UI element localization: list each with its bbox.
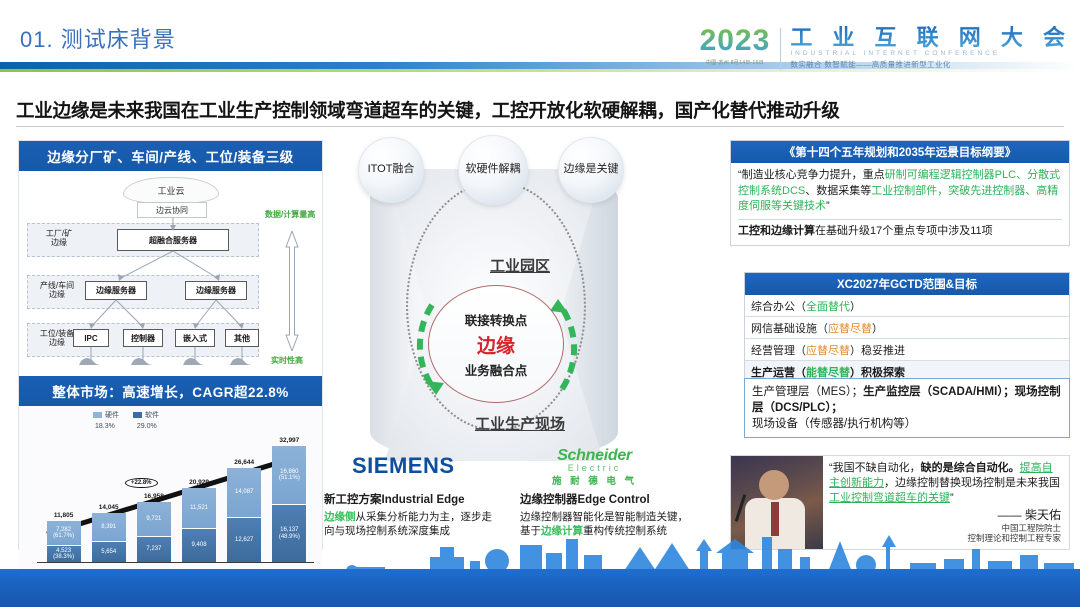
conference-name-en: INDUSTRIAL INTERNET CONFERENCE — [790, 50, 1072, 57]
caption-siemens-title: 新工控方案Industrial Edge — [324, 493, 500, 509]
hierarchy-connectors — [19, 171, 324, 376]
xc-table-row: 网信基础设施（应替尽替） — [745, 316, 1069, 338]
core-label-edge: 边缘 — [477, 331, 515, 358]
page-title: 01. 测试床背景 — [20, 22, 176, 54]
quote-p2: ，边缘控制替换现场控制是未来我国 — [884, 477, 1060, 489]
policy-quote-p2: 、数据采集等 — [805, 185, 871, 197]
footer-band — [0, 569, 1080, 607]
xc-table-row: 综合办公（全面替代） — [745, 295, 1069, 316]
conference-logo: 2023 中国·苏州 8月14日-16日 工 业 互 联 网 大 会 INDUS… — [700, 26, 1072, 70]
center-diagram: ITOT融合 软硬件解耦 边缘是关键 工业园区 工业生产现场 联接转换点 边缘 … — [330, 135, 710, 555]
core-edge-circle: 联接转换点 边缘 业务融合点 — [428, 285, 564, 403]
bar-total-label: 20,929 — [189, 479, 209, 486]
bar-segment-hardware: 16,860(51.1%) — [272, 446, 306, 505]
layers-line2: 现场设备（传感器/执行机构等） — [752, 418, 916, 430]
headline-text: 工业边缘是未来我国在工业生产控制领域弯道超车的关键，工控开放化软硬解耦，国产化替… — [16, 97, 1066, 123]
core-label-top: 联接转换点 — [465, 310, 528, 329]
xc-table-rows: 综合办公（全面替代）网信基础设施（应替尽替）经营管理（应替尽替）稳妥推进生产运营… — [745, 295, 1069, 382]
chart-legend: 硬件 软件 — [93, 410, 159, 420]
xc-table-title: XC2027年GCTD范围&目标 — [745, 273, 1069, 295]
xc-table: XC2027年GCTD范围&目标 综合办公（全面替代）网信基础设施（应替尽替）经… — [744, 272, 1070, 383]
legend-item-hardware: 硬件 — [93, 410, 119, 420]
bubble-decouple: 软硬件解耦 — [458, 135, 528, 205]
conference-name-cn: 工 业 互 联 网 大 会 — [790, 26, 1072, 49]
logo-divider — [780, 28, 781, 70]
headline-underline — [16, 126, 1064, 127]
policy-divider — [738, 219, 1062, 220]
quote-p3: ” — [950, 492, 954, 504]
policy-box: 《第十四个五年规划和2035年远景目标纲要》 “制造业核心竞争力提升，重点研制可… — [730, 140, 1070, 246]
schneider-logo: Schneider Electric 施 耐 德 电 气 — [552, 447, 637, 487]
bar-total-label: 32,997 — [279, 437, 299, 444]
schneider-logo-cn: 施 耐 德 电 气 — [552, 473, 637, 487]
bar-total-label: 14,045 — [99, 504, 119, 511]
bar-total-label: 26,644 — [234, 459, 254, 466]
policy-conclusion-rest: 在基础升级17个重点专项中涉及11项 — [815, 225, 993, 237]
policy-quote-p3: ” — [826, 200, 830, 212]
policy-body: “制造业核心竞争力提升，重点研制可编程逻辑控制器PLC、分散式控制系统DCS、数… — [731, 163, 1069, 245]
chart-title: 整体市场：高速增长，CAGR超22.8% — [19, 376, 322, 406]
quote-b1: 缺的是综合自动化。 — [921, 462, 1020, 474]
quote-g2: 工业控制弯道超车的关键 — [829, 492, 950, 504]
conference-year-block: 2023 中国·苏州 8月14日-16日 — [700, 26, 781, 66]
policy-conclusion: 工控和边缘计算在基础升级17个重点专项中涉及11项 — [738, 224, 1062, 240]
layers-line1: 生产管理层（MES）； — [752, 386, 863, 398]
conference-name-block: 工 业 互 联 网 大 会 INDUSTRIAL INTERNET CONFER… — [790, 26, 1072, 70]
bar-segment-hardware: 14,087 — [227, 468, 261, 518]
policy-quote-p1: “制造业核心竞争力提升，重点 — [738, 169, 885, 181]
growth-hardware: 18.3% — [95, 423, 115, 430]
left-panel: 边缘分厂矿、车间/产线、工位/装备三级 工业云 边云协同 数据/计算量高 实时性… — [18, 140, 323, 550]
siemens-logo: SIEMENS — [352, 453, 455, 479]
bubble-edge-key: 边缘是关键 — [558, 137, 624, 203]
caption-siemens-highlight: 边缘侧 — [324, 511, 356, 523]
quote-author: —— 柴天佑 — [829, 507, 1061, 523]
conference-year-sub: 中国·苏州 8月14日-16日 — [700, 59, 771, 66]
conference-tagline: 数实融合 数智赋能——高质量推进新型工业化 — [790, 59, 1072, 70]
policy-title: 《第十四个五年规划和2035年远景目标纲要》 — [731, 141, 1069, 163]
bar-total-label: 11,805 — [54, 512, 74, 519]
layers-box: 生产管理层（MES）；生产监控层（SCADA/HMI）；现场控制层（DCS/PL… — [744, 378, 1070, 438]
growth-software: 29.0% — [137, 423, 157, 430]
quote-p1: “我国不缺自动化， — [829, 462, 921, 474]
core-label-bottom: 业务融合点 — [465, 360, 528, 379]
bar-segment-hardware: 11,521 — [182, 488, 216, 529]
legend-item-software: 软件 — [133, 410, 159, 420]
hierarchy-title: 边缘分厂矿、车间/产线、工位/装备三级 — [19, 141, 322, 171]
hierarchy-diagram: 工业云 边云协同 数据/计算量高 实时性高 工厂/矿边缘 产线/车间边缘 工位/… — [19, 171, 322, 376]
bar-total-label: 16,958 — [144, 493, 164, 500]
chart-growth-labels: 18.3% 29.0% — [95, 423, 157, 430]
policy-conclusion-bold: 工控和边缘计算 — [738, 225, 815, 237]
caption-schneider-title: 边缘控制器Edge Control — [520, 493, 696, 509]
xc-table-row: 经营管理（应替尽替）稳妥推进 — [745, 338, 1069, 360]
conference-year: 2023 — [700, 26, 771, 56]
bubble-itot: ITOT融合 — [358, 137, 424, 203]
